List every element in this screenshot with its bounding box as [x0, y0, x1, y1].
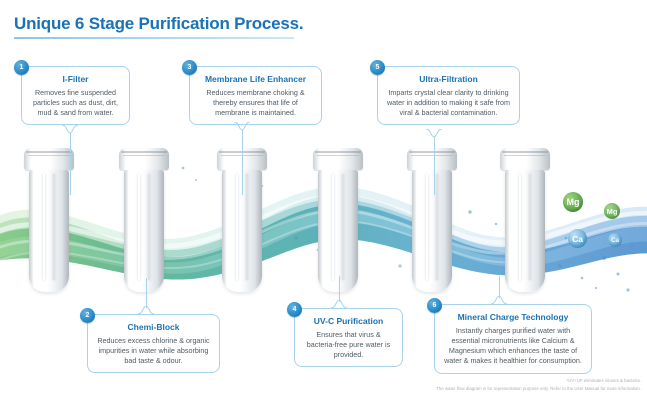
stage-callout-6[interactable]: 6 Mineral Charge Technology Instantly ch… — [427, 298, 592, 374]
stage-badge-5: 5 — [370, 60, 385, 75]
footnote-uv-uf: *UV+UF eliminates viruses & bacteria. — [566, 377, 641, 384]
stage-title: Membrane Life Enhancer — [198, 74, 313, 85]
stage-bubble-1: I-Filter Removes fine suspended particle… — [21, 66, 130, 125]
callout-stem — [339, 276, 340, 302]
stage-number: 3 — [188, 64, 192, 71]
stage-bubble-3: Membrane Life Enhancer Reduces membrane … — [189, 66, 322, 125]
footnote-disclaimer: The water flow diagram is for representa… — [436, 385, 641, 392]
callout-stem — [499, 276, 500, 298]
stage-number: 6 — [433, 302, 437, 309]
filter-cartridge-4 — [313, 148, 363, 292]
stage-description: Ensures that virus & bacteria-free pure … — [303, 330, 394, 361]
stage-badge-6: 6 — [427, 298, 442, 313]
infographic-canvas: Unique 6 Stage Purification Process. — [0, 0, 647, 400]
cartridge-rib — [436, 174, 438, 280]
mineral-bubble-calcium: Ca — [568, 229, 587, 248]
stage-number: 5 — [376, 64, 380, 71]
cartridge-gloss — [322, 173, 329, 278]
callout-stem — [146, 278, 147, 308]
cartridge-gloss — [128, 173, 135, 278]
cartridge-body — [318, 170, 358, 292]
stage-number: 4 — [293, 306, 297, 313]
filter-cartridge-2 — [119, 148, 169, 292]
mineral-label: Mg — [567, 197, 580, 207]
mineral-bubble-magnesium: Mg — [604, 203, 620, 219]
mineral-label: Ca — [611, 237, 619, 244]
stage-title: UV-C Purification — [303, 316, 394, 327]
cartridge-rib — [332, 174, 334, 280]
cartridge-body — [412, 170, 452, 292]
cartridge-rib — [43, 174, 45, 280]
stage-bubble-2: Chemi-Block Reduces excess chlorine & or… — [87, 314, 220, 373]
stage-number: 2 — [86, 312, 90, 319]
stage-description: Reduces excess chlorine & organic impuri… — [96, 336, 211, 367]
stage-description: Removes fine suspended particles such as… — [30, 88, 121, 119]
cartridge-cap — [313, 148, 363, 170]
filter-cartridge-6 — [500, 148, 550, 292]
stage-badge-1: 1 — [14, 60, 29, 75]
page-title: Unique 6 Stage Purification Process. — [14, 14, 303, 34]
cartridge-rib — [53, 174, 55, 280]
mineral-label: Mg — [607, 207, 618, 216]
cartridge-cap — [407, 148, 457, 170]
stage-badge-2: 2 — [80, 308, 95, 323]
cartridge-gloss — [509, 173, 516, 278]
callout-stem — [434, 137, 435, 195]
stage-callout-2[interactable]: 2 Chemi-Block Reduces excess chlorine & … — [80, 308, 220, 373]
mineral-bubble-magnesium: Mg — [563, 192, 583, 212]
callout-stem — [242, 130, 243, 195]
stage-number: 1 — [20, 64, 24, 71]
stage-description: Imparts crystal clear clarity to drinkin… — [386, 88, 511, 119]
mineral-label: Ca — [572, 234, 583, 244]
cartridge-rib — [246, 174, 248, 280]
stage-callout-4[interactable]: 4 UV-C Purification Ensures that virus &… — [287, 302, 403, 367]
stage-bubble-6: Mineral Charge Technology Instantly char… — [434, 304, 592, 374]
cartridge-rib — [148, 174, 150, 280]
cartridge-cap — [500, 148, 550, 170]
cartridge-gloss — [226, 173, 233, 278]
cartridge-rib — [342, 174, 344, 280]
cartridge-body — [29, 170, 69, 292]
cartridge-cap — [24, 148, 74, 170]
stage-description: Instantly charges purified water with es… — [443, 326, 583, 367]
title-underline-divider — [14, 37, 294, 39]
mineral-bubble-calcium: Ca — [608, 233, 622, 247]
cartridge-rib — [236, 174, 238, 280]
stage-badge-3: 3 — [182, 60, 197, 75]
cartridge-rib — [529, 174, 531, 280]
cartridge-rib — [519, 174, 521, 280]
stage-callout-1[interactable]: 1 I-Filter Removes fine suspended partic… — [14, 60, 130, 125]
stage-title: I-Filter — [30, 74, 121, 85]
cartridge-rib — [138, 174, 140, 280]
stage-callout-3[interactable]: 3 Membrane Life Enhancer Reduces membran… — [182, 60, 322, 125]
stage-description: Reduces membrane choking & thereby ensur… — [198, 88, 313, 119]
stage-badge-4: 4 — [287, 302, 302, 317]
filter-cartridge-5 — [407, 148, 457, 292]
stage-bubble-5: Ultra-Filtration Imparts crystal clear c… — [377, 66, 520, 125]
callout-stem — [70, 133, 71, 195]
stage-bubble-4: UV-C Purification Ensures that virus & b… — [294, 308, 403, 367]
cartridge-gloss — [33, 173, 40, 278]
cartridge-body — [505, 170, 545, 292]
cartridge-gloss — [416, 173, 423, 278]
cartridge-body — [124, 170, 164, 292]
stage-title: Ultra-Filtration — [386, 74, 511, 85]
filter-cartridge-1 — [24, 148, 74, 292]
stage-callout-5[interactable]: 5 Ultra-Filtration Imparts crystal clear… — [370, 60, 520, 125]
cartridge-cap — [119, 148, 169, 170]
stage-title: Mineral Charge Technology — [443, 312, 583, 323]
cartridge-rib — [426, 174, 428, 280]
stage-title: Chemi-Block — [96, 322, 211, 333]
